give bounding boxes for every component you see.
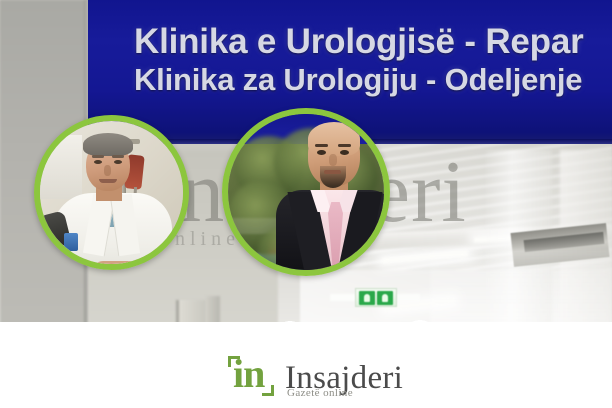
doctor-id-badge [64, 233, 78, 251]
emergency-exit-sign-icon [355, 288, 397, 307]
exit-door-icon [377, 291, 393, 305]
torn-paper-edge [0, 314, 612, 348]
doctor-eyebrow-right [112, 155, 124, 158]
sign-line-serbian: Klinika za Urologiju - Odeljenje [134, 62, 582, 98]
ceiling-light [330, 294, 356, 301]
ceiling-light [394, 294, 420, 301]
doctor-nose [104, 165, 111, 176]
doctor-eyebrow-left [92, 155, 104, 158]
exit-running-man-icon [359, 291, 375, 305]
doctor-wall-panel [40, 135, 82, 199]
man-eyebrow-right [338, 144, 351, 147]
logo-wordmark: Insajderi Gazetë online [285, 362, 403, 396]
bracket-bottom-right-icon [271, 385, 274, 396]
insajderi-logo-mark-icon: in [228, 356, 274, 396]
doctor-eye-right [114, 160, 122, 164]
doctor-mouth [99, 179, 117, 183]
portrait-doctor-image [40, 121, 183, 264]
portrait-doctor [34, 115, 189, 270]
man-mouth [324, 170, 341, 174]
man-eyebrow-left [315, 144, 328, 147]
portrait-man-image [228, 114, 384, 270]
portrait-man-in-suit [222, 108, 390, 276]
logo-tagline: Gazetë online [287, 387, 353, 399]
logo-mark-text: in [233, 354, 264, 394]
man-eye-left [317, 150, 326, 155]
article-cover-image: Klinika e Urologjisë - Repar Klinika za … [0, 0, 612, 408]
man-eye-right [340, 150, 349, 155]
doctor-eye-left [94, 160, 102, 164]
man-nose [329, 154, 337, 166]
insajderi-logo[interactable]: in Insajderi Gazetë online [228, 356, 403, 396]
sign-line-albanian: Klinika e Urologjisë - Repar [134, 22, 584, 62]
man-bald-head [308, 122, 360, 156]
bracket-top-left-icon [228, 356, 231, 367]
doctor-hair [83, 133, 133, 156]
doctor-hands [92, 261, 150, 264]
